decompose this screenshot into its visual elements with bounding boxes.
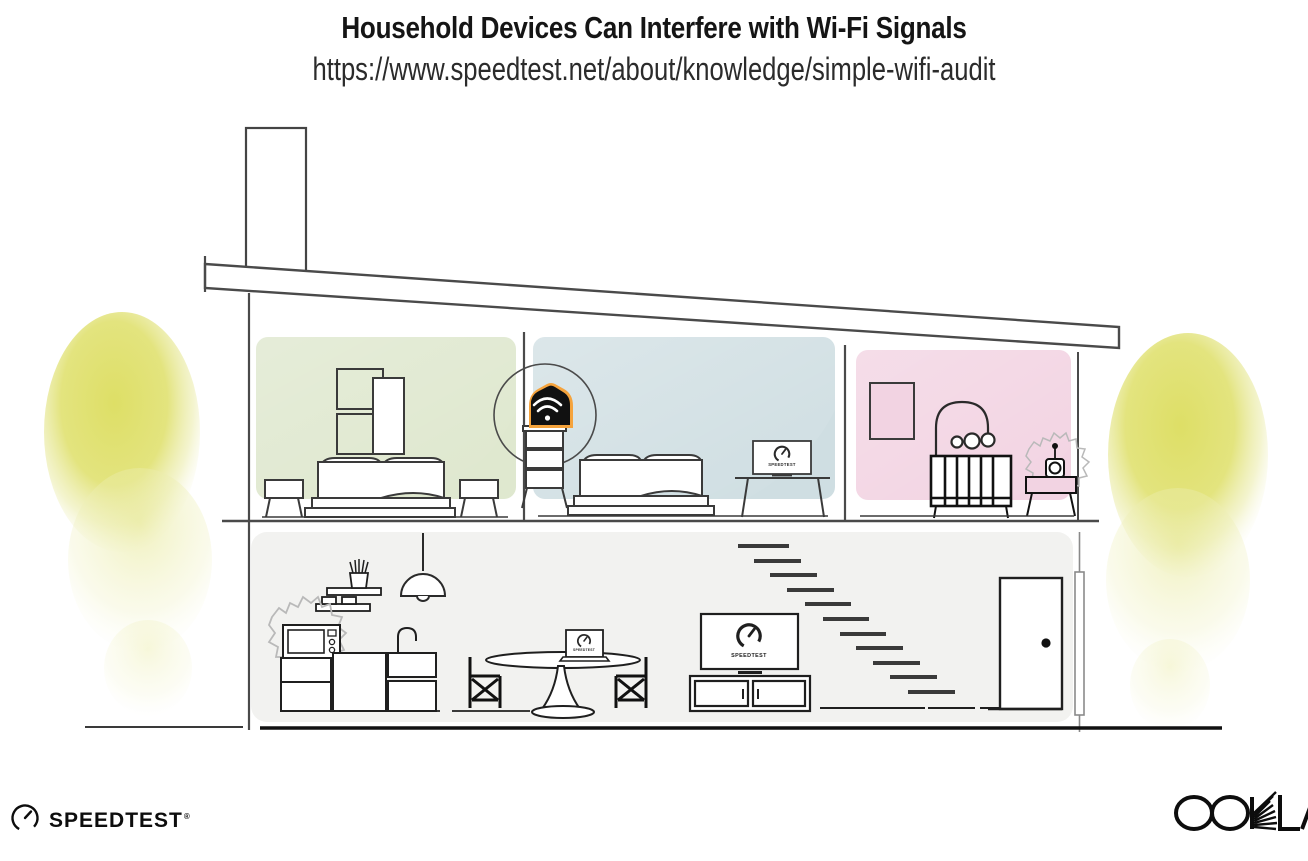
ground-line xyxy=(85,727,1222,728)
television: SPEEDTEST xyxy=(701,614,798,674)
monitor-speedtest-label: SPEEDTEST xyxy=(768,462,796,467)
nightstand-left-green xyxy=(265,480,303,517)
roof xyxy=(205,256,1119,348)
tree-left xyxy=(44,312,212,716)
kitchen-counters xyxy=(281,653,436,711)
media-console xyxy=(690,676,810,711)
speedtest-logo: SPEEDTEST® xyxy=(10,803,191,833)
bed-blue-bedroom xyxy=(568,455,714,515)
tv-speedtest-label: SPEEDTEST xyxy=(731,653,767,659)
laptop-dining: SPEEDTEST xyxy=(560,630,609,661)
chimney xyxy=(246,128,306,276)
ookla-wordmark-icon: ® xyxy=(1172,791,1308,835)
speedtest-wordmark: SPEEDTEST® xyxy=(49,806,191,831)
speedtest-trademark: ® xyxy=(184,812,191,821)
microwave xyxy=(283,625,340,658)
nightstand-right-green xyxy=(460,480,498,517)
bed-green-bedroom xyxy=(305,458,455,517)
house-illustration: SPEEDTEST xyxy=(0,0,1308,861)
wall-art-nursery xyxy=(870,383,914,439)
ookla-logo: ® xyxy=(1172,791,1308,835)
crib xyxy=(931,456,1011,518)
tree-right xyxy=(1106,333,1268,731)
speedtest-gauge-icon xyxy=(10,803,40,833)
speedtest-wordmark-text: SPEEDTEST xyxy=(49,809,183,832)
laptop-speedtest-label: SPEEDTEST xyxy=(573,648,596,652)
infographic-page: Household Devices Can Interfere with Wi-… xyxy=(0,0,1308,861)
entry-door xyxy=(988,578,1062,709)
desk-monitor: SPEEDTEST xyxy=(753,441,811,476)
sidelight-window xyxy=(1075,532,1084,732)
